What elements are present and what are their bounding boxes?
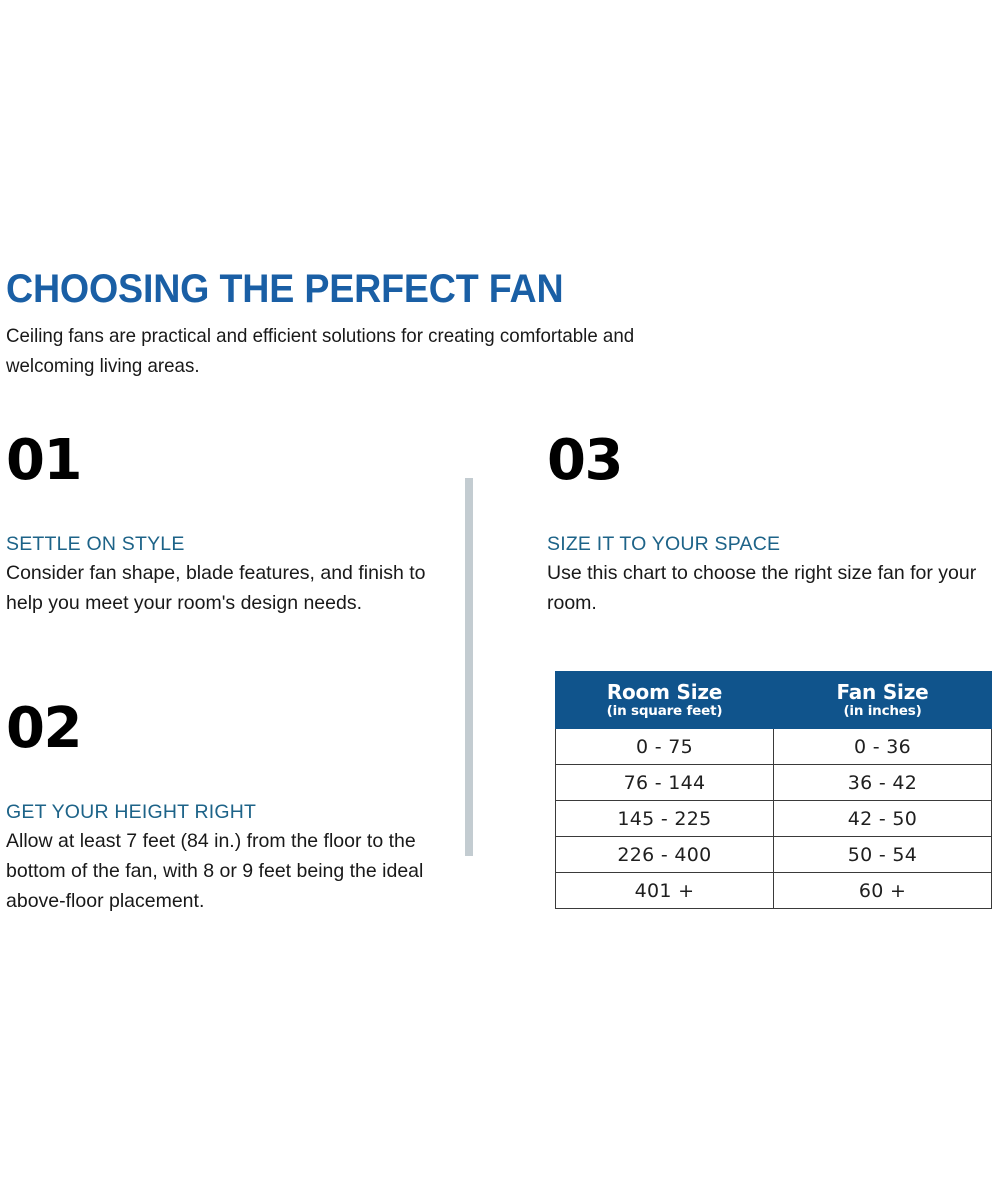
infographic-page: CHOOSING THE PERFECT FAN Ceiling fans ar… [0,0,1000,1200]
step-01-heading: SETTLE ON STYLE [6,532,426,556]
cell-room-size: 226 - 400 [556,837,774,873]
cell-fan-size: 42 - 50 [774,801,992,837]
intro-paragraph: Ceiling fans are practical and efficient… [6,312,705,381]
column-header-fan-size-sub: (in inches) [774,703,991,719]
table-row: 0 - 75 0 - 36 [556,729,992,765]
column-header-room-size: Room Size (in square feet) [556,672,774,729]
step-03-number: 03 [547,432,993,490]
step-03-spacer [547,490,993,532]
cell-fan-size: 50 - 54 [774,837,992,873]
cell-room-size: 145 - 225 [556,801,774,837]
table-header-row: Room Size (in square feet) Fan Size (in … [556,672,992,729]
step-02-block: 02 GET YOUR HEIGHT RIGHT Allow at least … [6,700,426,916]
table-row: 76 - 144 36 - 42 [556,765,992,801]
table-row: 145 - 225 42 - 50 [556,801,992,837]
cell-fan-size: 0 - 36 [774,729,992,765]
cell-room-size: 401 + [556,873,774,909]
column-header-room-size-main: Room Size [556,681,773,703]
page-title: CHOOSING THE PERFECT FAN [6,266,664,312]
step-01-block: 01 SETTLE ON STYLE Consider fan shape, b… [6,432,426,618]
step-02-spacer [6,758,426,800]
step-03-block: 03 SIZE IT TO YOUR SPACE Use this chart … [547,432,993,618]
step-02-body: Allow at least 7 feet (84 in.) from the … [6,824,426,916]
cell-room-size: 0 - 75 [556,729,774,765]
step-02-number: 02 [6,700,426,758]
cell-fan-size: 60 + [774,873,992,909]
intro-block: CHOOSING THE PERFECT FAN Ceiling fans ar… [6,266,706,381]
fan-size-table: Room Size (in square feet) Fan Size (in … [555,671,992,909]
column-header-room-size-sub: (in square feet) [556,703,773,719]
table-row: 401 + 60 + [556,873,992,909]
table-body: 0 - 75 0 - 36 76 - 144 36 - 42 145 - 225… [556,729,992,909]
column-header-fan-size: Fan Size (in inches) [774,672,992,729]
cell-fan-size: 36 - 42 [774,765,992,801]
step-01-body: Consider fan shape, blade features, and … [6,556,426,618]
step-01-spacer [6,490,426,532]
column-header-fan-size-main: Fan Size [774,681,991,703]
table-head: Room Size (in square feet) Fan Size (in … [556,672,992,729]
step-03-heading: SIZE IT TO YOUR SPACE [547,532,993,556]
step-02-heading: GET YOUR HEIGHT RIGHT [6,800,426,824]
table-row: 226 - 400 50 - 54 [556,837,992,873]
step-01-number: 01 [6,432,426,490]
step-03-body: Use this chart to choose the right size … [547,556,993,618]
column-divider [465,478,473,856]
cell-room-size: 76 - 144 [556,765,774,801]
